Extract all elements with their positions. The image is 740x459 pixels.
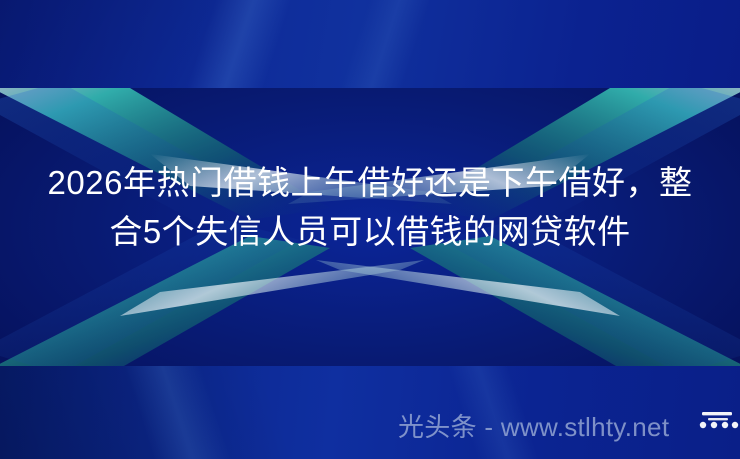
poster-canvas: 2026年热门借钱上午借好还是下午借好，整合5个失信人员可以借钱的网贷软件 光头… [0,0,740,459]
background-band-top [0,0,740,88]
site-watermark: 光头条 - www.stlhty.net [398,411,669,443]
page-title: 2026年热门借钱上午借好还是下午借好，整合5个失信人员可以借钱的网贷软件 [40,158,700,256]
